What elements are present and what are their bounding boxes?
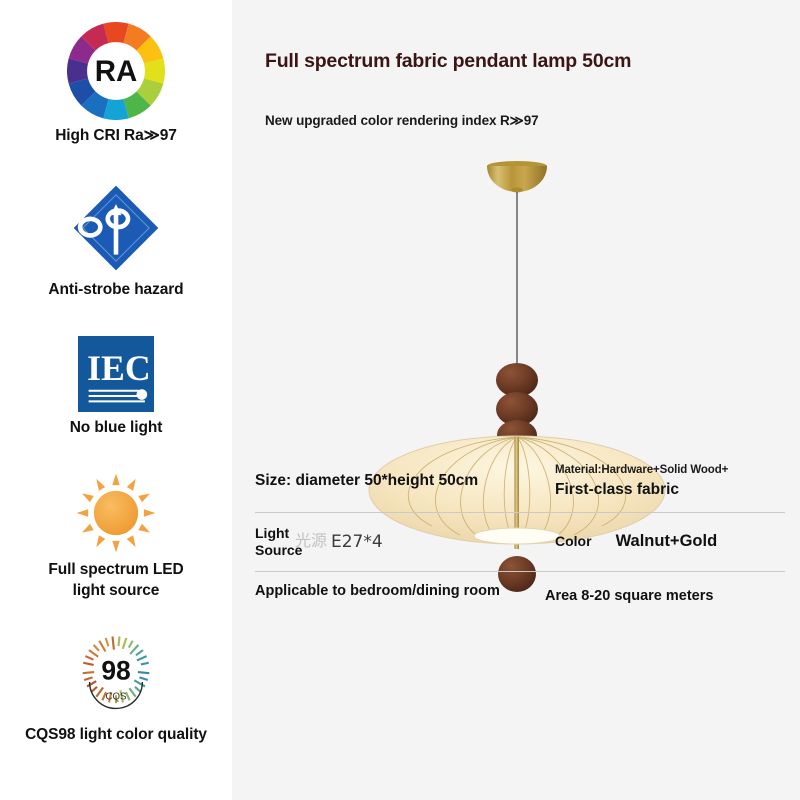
feature-cqs98: 98 CQS CQS98 light color quality [0,631,232,745]
spec-light-source-value: E27*4 [331,532,383,552]
specification-table: Size: diameter 50*height 50cm Material:H… [255,450,785,628]
feature-high-cri: RA High CRI Ra≫97 [0,22,232,146]
feature-anti-strobe: Anti-strobe hazard [0,182,232,300]
product-panel: Full spectrum fabric pendant lamp 50cm N… [232,0,800,800]
spec-color-value: Walnut+Gold [616,532,718,552]
spec-cell-application: Applicable to bedroom/dining room [255,582,545,600]
color-wheel-ra-icon: RA [67,22,165,120]
feature-caption: CQS98 light color quality [25,725,207,745]
spec-color-label: Color [555,533,592,550]
feature-caption: High CRI Ra≫97 [55,126,177,146]
spec-cell-area: Area 8-20 square meters [545,582,785,605]
spec-light-source-label: Light Source [255,525,317,559]
cqs-score-icon: 98 CQS [70,631,162,719]
sun-full-spectrum-icon [73,472,159,554]
cqs-label-text: CQS [106,691,127,702]
feature-full-spectrum-led: Full spectrum LED light source [0,472,232,600]
ra-badge-text: RA [95,55,137,88]
spec-cell-light-source: Light Source 光源 E27*4 [255,525,555,559]
spec-cell-color: Color Walnut+Gold [555,532,785,552]
spec-application-label: Applicable to bedroom/dining room [255,582,500,600]
table-row: Light Source 光源 E27*4 Color Walnut+Gold [255,513,785,571]
product-detail-page: RA High CRI Ra≫97 Ant [0,0,800,800]
feature-sidebar: RA High CRI Ra≫97 Ant [0,0,232,800]
table-row: Applicable to bedroom/dining room Area 8… [255,572,785,628]
iec-certification-icon: IEC [78,336,154,412]
ceiling-canopy [487,161,547,192]
spec-area-value: Area 8-20 square meters [545,588,713,605]
spec-material-value: First-class fabric [555,481,679,500]
table-row: Size: diameter 50*height 50cm Material:H… [255,450,785,512]
anti-strobe-diamond-icon [70,182,162,274]
spec-cell-size: Size: diameter 50*height 50cm [255,472,555,491]
page-subtitle: New upgraded color rendering index R≫97 [265,113,539,129]
feature-caption: Full spectrum LED light source [36,560,196,600]
feature-caption: No blue light [70,418,163,438]
feature-no-blue-light: IEC No blue light [0,336,232,438]
iec-badge-text: IEC [87,348,151,388]
cqs-score-text: 98 [101,655,130,685]
spec-size-label: Size: diameter 50*height 50cm [255,472,478,491]
page-title: Full spectrum fabric pendant lamp 50cm [265,50,631,73]
spec-material-label: Material:Hardware+Solid Wood+ [555,463,728,477]
spec-cell-material: Material:Hardware+Solid Wood+ First-clas… [555,463,785,500]
feature-caption: Anti-strobe hazard [48,280,183,300]
